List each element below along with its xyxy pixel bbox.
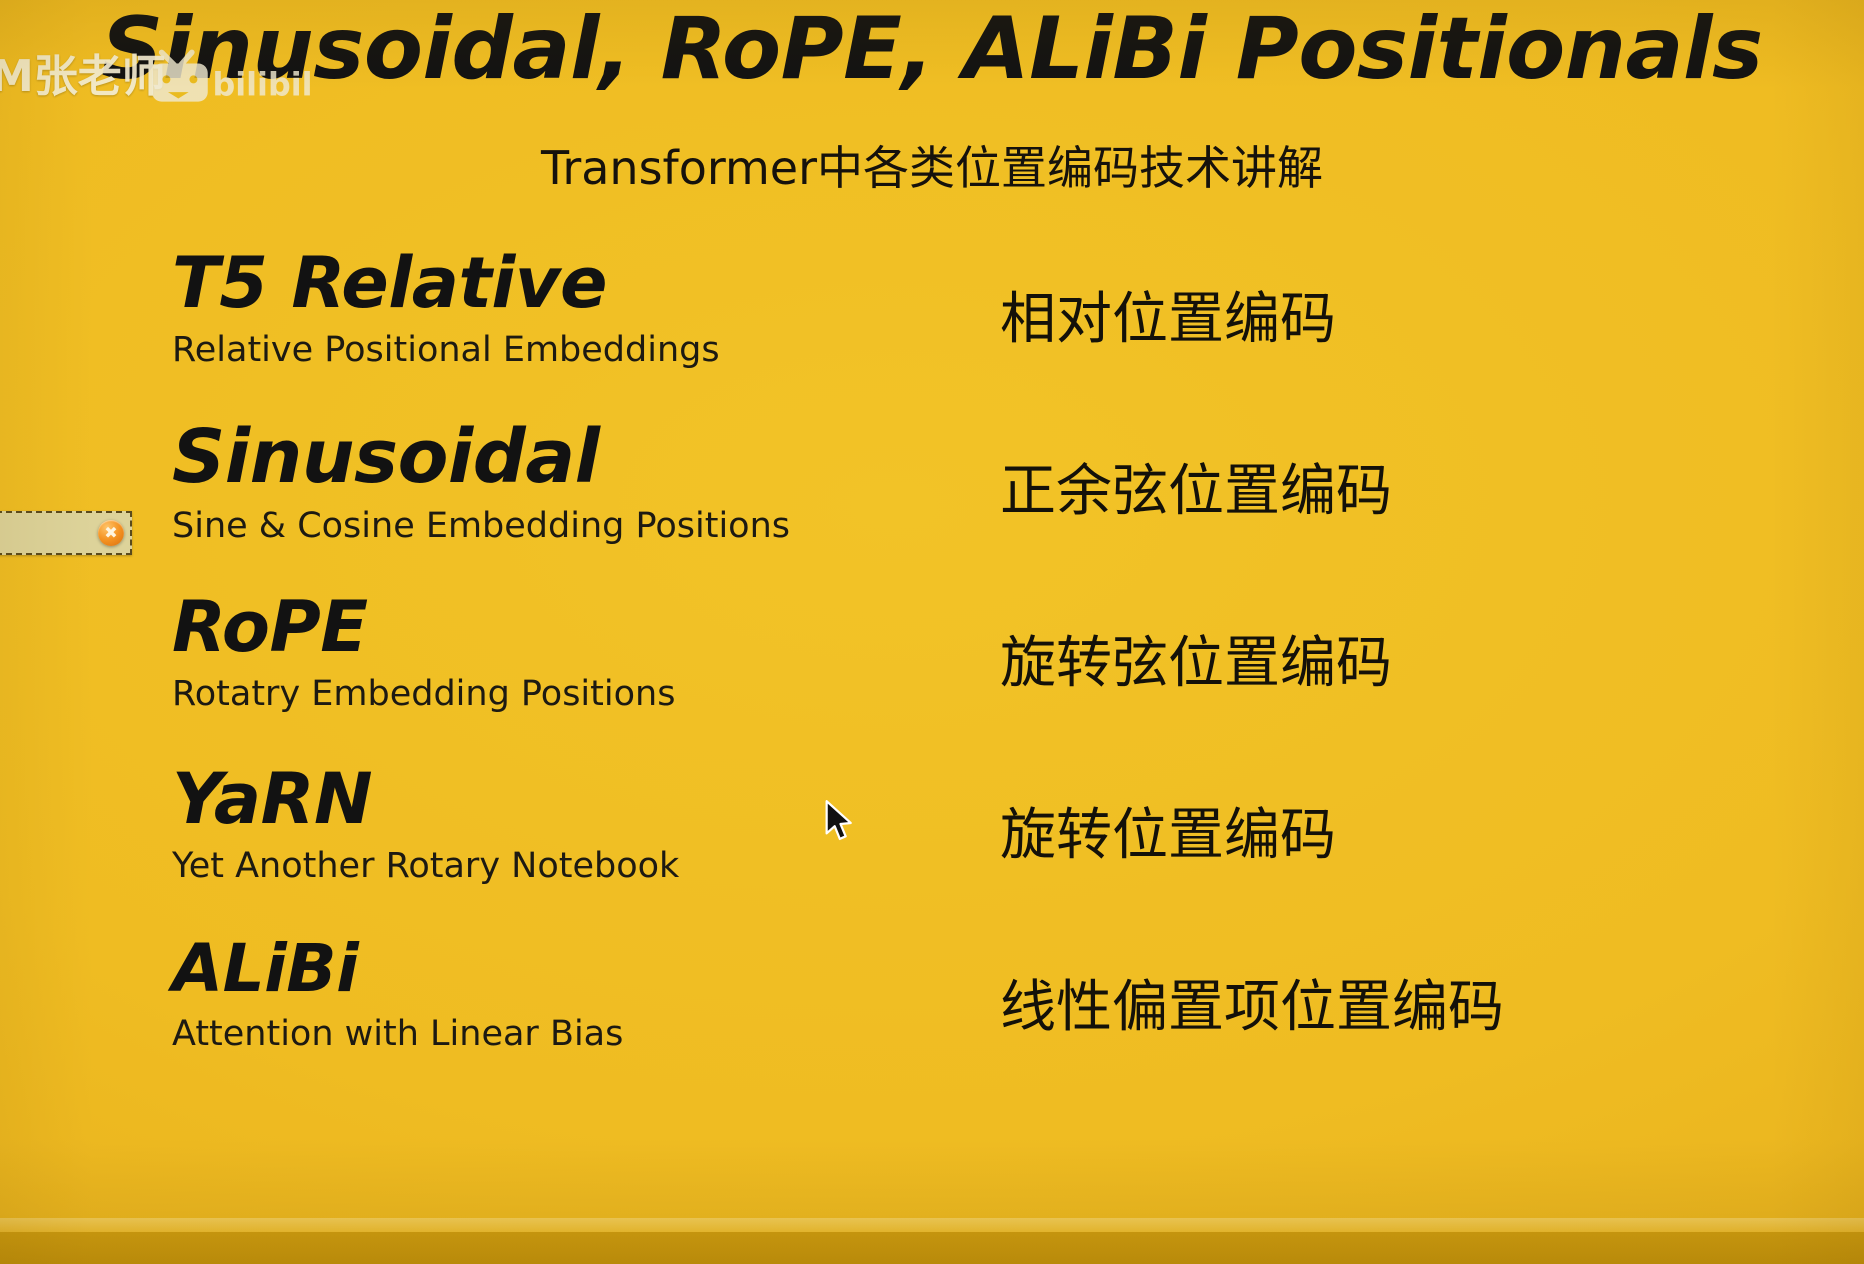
list-item-term: RoPE xyxy=(172,592,1000,662)
list-item: YaRN Yet Another Rotary Notebook 旋转位置编码 xyxy=(0,764,1864,936)
list-item-term: Sinusoidal xyxy=(172,420,1000,494)
positional-encodings-list: T5 Relative Relative Positional Embeddin… xyxy=(0,248,1864,1108)
list-item-left: Sinusoidal Sine & Cosine Embedding Posit… xyxy=(0,420,1000,546)
list-item-chinese: 相对位置编码 xyxy=(1000,248,1864,355)
list-item-description: Yet Another Rotary Notebook xyxy=(172,846,1000,886)
list-item: RoPE Rotatry Embedding Positions 旋转弦位置编码 xyxy=(0,592,1864,764)
list-item-chinese: 线性偏置项位置编码 xyxy=(1000,936,1864,1043)
list-item-chinese: 正余弦位置编码 xyxy=(1000,420,1864,527)
list-item-left: RoPE Rotatry Embedding Positions xyxy=(0,592,1000,714)
list-item-chinese: 旋转弦位置编码 xyxy=(1000,592,1864,699)
list-item-term: T5 Relative xyxy=(172,248,1000,318)
close-icon[interactable]: ✖ xyxy=(98,520,124,546)
notification-box[interactable]: ✖ xyxy=(0,511,132,555)
list-item: Sinusoidal Sine & Cosine Embedding Posit… xyxy=(0,420,1864,592)
list-item-description: Sine & Cosine Embedding Positions xyxy=(172,506,1000,546)
list-item-chinese: 旋转位置编码 xyxy=(1000,764,1864,871)
list-item-description: Relative Positional Embeddings xyxy=(172,330,1000,370)
list-item-left: T5 Relative Relative Positional Embeddin… xyxy=(0,248,1000,370)
list-item-description: Rotatry Embedding Positions xyxy=(172,674,1000,714)
list-item: T5 Relative Relative Positional Embeddin… xyxy=(0,248,1864,420)
list-item-term: ALiBi xyxy=(172,936,1000,1002)
list-item: ALiBi Attention with Linear Bias 线性偏置项位置… xyxy=(0,936,1864,1108)
page-subtitle: Transformer中各类位置编码技术讲解 xyxy=(0,132,1864,198)
list-item-left: ALiBi Attention with Linear Bias xyxy=(0,936,1000,1054)
list-item-description: Attention with Linear Bias xyxy=(172,1014,1000,1054)
list-item-term: YaRN xyxy=(172,764,1000,834)
page-title: Sinusoidal, RoPE, ALiBi Positionals xyxy=(0,4,1864,94)
video-player-frame: Sinusoidal, RoPE, ALiBi Positionals Tran… xyxy=(0,0,1864,1264)
list-item-left: YaRN Yet Another Rotary Notebook xyxy=(0,764,1000,886)
